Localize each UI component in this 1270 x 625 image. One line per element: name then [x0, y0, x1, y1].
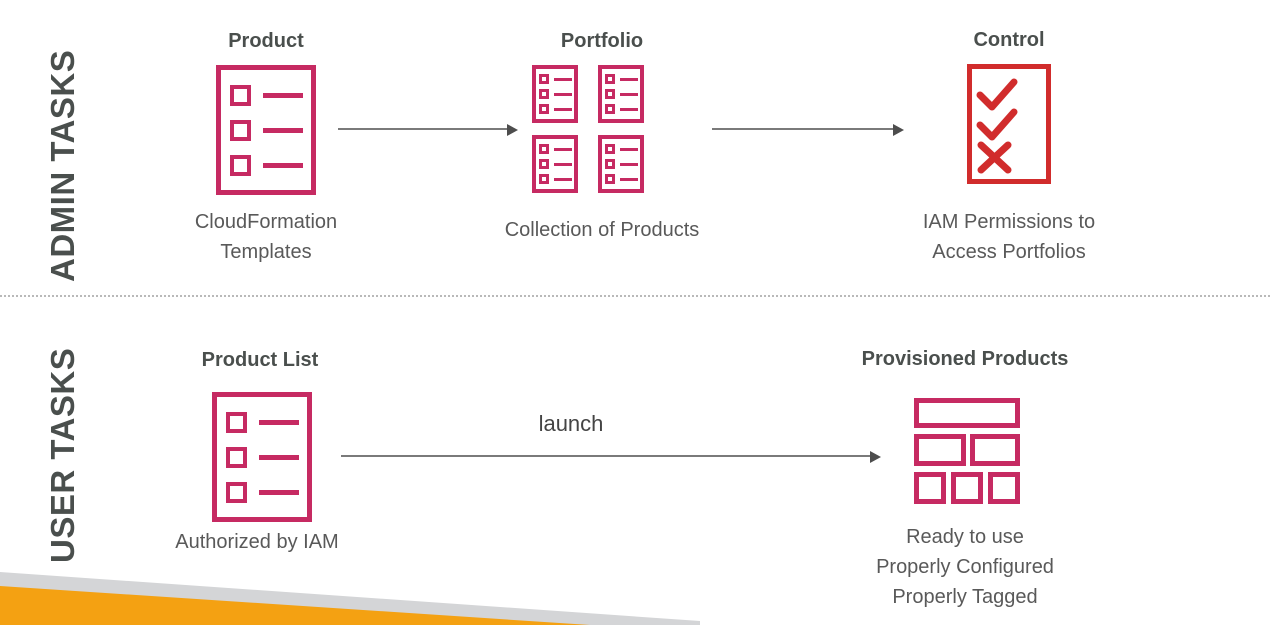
arrow-shaft: [712, 128, 893, 130]
checkbox-square-icon: [230, 85, 251, 106]
checkbox-square-icon: [605, 159, 615, 169]
list-line: [263, 163, 303, 168]
caption-line: Collection of Products: [505, 215, 700, 245]
list-line: [259, 490, 299, 495]
caption-product-list: Authorized by IAM: [175, 527, 338, 557]
checkbox-square-icon: [605, 144, 615, 154]
section-label-user-tasks: USER TASKS: [44, 348, 82, 563]
caption-line: CloudFormation: [195, 207, 337, 237]
checkbox-square-icon: [230, 120, 251, 141]
caption-portfolio: Collection of Products: [505, 215, 700, 245]
control-marks: [972, 69, 1046, 179]
arrow-portfolio-to-control: [712, 122, 904, 136]
heading-product-list: Product List: [202, 349, 319, 372]
checkbox-square-icon: [539, 174, 549, 184]
checkbox-square-icon: [605, 74, 615, 84]
list-row: [226, 482, 299, 503]
arrow-head-icon: [893, 124, 904, 136]
list-line: [620, 178, 638, 181]
arrow-head-icon: [870, 451, 881, 463]
arrow-head-icon: [507, 124, 518, 136]
section-label-admin-tasks: ADMIN TASKS: [44, 50, 82, 282]
provisioned-tile: [914, 398, 1020, 428]
list-line: [263, 93, 303, 98]
list-line: [554, 93, 572, 96]
provisioned-tile: [951, 472, 983, 504]
provisioned-tile: [914, 472, 946, 504]
caption-line: Access Portfolios: [923, 237, 1095, 267]
checkbox-square-icon: [226, 447, 247, 468]
checklist-approval-icon: [967, 64, 1051, 184]
check-icon: [980, 112, 1014, 137]
list-row: [605, 74, 638, 84]
list-row: [539, 159, 572, 169]
list-line: [554, 163, 572, 166]
list-line: [554, 148, 572, 151]
list-row: [230, 155, 303, 176]
list-row: [230, 120, 303, 141]
checkbox-square-icon: [605, 89, 615, 99]
caption-control: IAM Permissions to Access Portfolios: [923, 207, 1095, 267]
arrow-shaft: [341, 455, 870, 457]
list-row: [539, 174, 572, 184]
heading-product: Product: [228, 30, 304, 53]
list-row: [230, 85, 303, 106]
heading-control: Control: [973, 29, 1044, 52]
arrow-shaft: [338, 128, 507, 130]
checkbox-square-icon: [605, 174, 615, 184]
checkbox-square-icon: [226, 412, 247, 433]
list-line: [259, 455, 299, 460]
provisioned-tile: [988, 472, 1020, 504]
checkbox-square-icon: [539, 144, 549, 154]
list-row: [539, 74, 572, 84]
list-row: [539, 144, 572, 154]
provisioned-tile: [970, 434, 1020, 466]
list-line: [620, 148, 638, 151]
list-line: [620, 78, 638, 81]
arrow-product-to-portfolio: [338, 122, 518, 136]
list-document-icon: [532, 65, 578, 123]
arrow-launch: [341, 449, 881, 463]
list-line: [554, 78, 572, 81]
list-line: [554, 108, 572, 111]
check-icon: [980, 82, 1014, 107]
list-line: [263, 128, 303, 133]
heading-portfolio: Portfolio: [561, 30, 643, 53]
slide-canvas: ADMIN TASKS USER TASKS Product CloudForm…: [0, 0, 1270, 625]
checkbox-square-icon: [539, 104, 549, 114]
heading-provisioned-products: Provisioned Products: [862, 348, 1069, 371]
caption-line: Ready to use: [876, 522, 1054, 552]
provisioned-tile: [914, 434, 966, 466]
decorative-bands: [0, 565, 1270, 625]
list-document-icon: [598, 135, 644, 193]
checkbox-square-icon: [230, 155, 251, 176]
arrow-label-launch: launch: [539, 411, 604, 437]
list-row: [539, 89, 572, 99]
list-line: [554, 178, 572, 181]
checkbox-square-icon: [226, 482, 247, 503]
section-divider: [0, 295, 1270, 297]
list-line: [259, 420, 299, 425]
caption-product: CloudFormation Templates: [195, 207, 337, 267]
list-line: [620, 163, 638, 166]
list-document-icon: [216, 65, 316, 195]
caption-line: Authorized by IAM: [175, 527, 338, 557]
checkbox-square-icon: [605, 104, 615, 114]
list-row: [605, 159, 638, 169]
checkbox-square-icon: [539, 89, 549, 99]
portfolio-collection-icon: [532, 65, 672, 195]
list-row: [605, 144, 638, 154]
list-line: [620, 108, 638, 111]
provisioned-products-icon: [914, 398, 1020, 508]
caption-line: IAM Permissions to: [923, 207, 1095, 237]
checkbox-square-icon: [539, 74, 549, 84]
list-row: [605, 89, 638, 99]
checkbox-square-icon: [539, 159, 549, 169]
list-document-icon: [532, 135, 578, 193]
list-row: [226, 447, 299, 468]
list-document-icon: [212, 392, 312, 522]
list-line: [620, 93, 638, 96]
list-row: [605, 104, 638, 114]
list-row: [605, 174, 638, 184]
list-row: [226, 412, 299, 433]
list-row: [539, 104, 572, 114]
caption-line: Templates: [195, 237, 337, 267]
list-document-icon: [598, 65, 644, 123]
